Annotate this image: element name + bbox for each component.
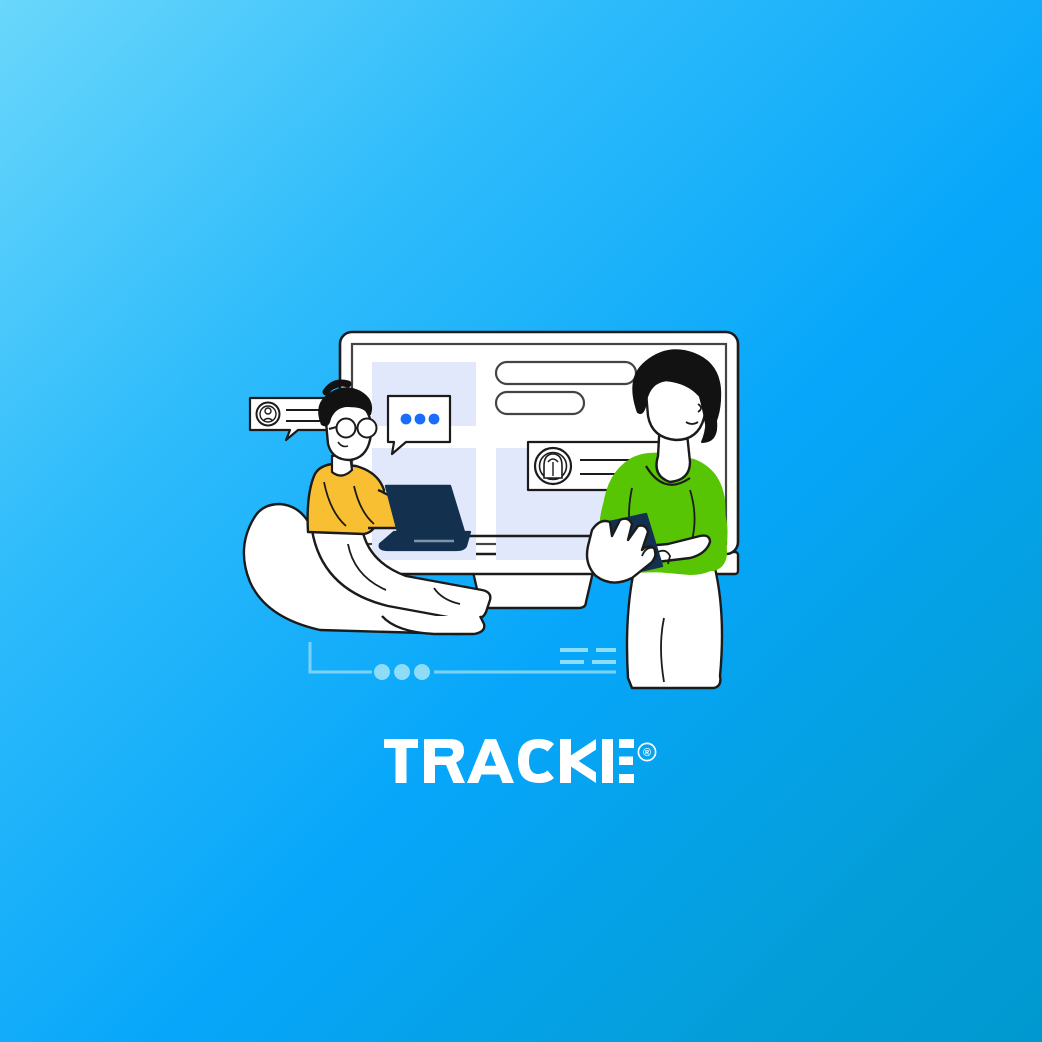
monitor-stand [473,572,593,608]
typing-dot [401,414,412,425]
typing-dot [415,414,426,425]
two-people-collaborating-illustration [228,300,808,700]
registered-trademark-icon: ® [636,741,658,763]
female-avatar-icon [535,448,571,484]
poster-canvas: ® TRACKIER Man on beanbag with laptop an… [0,0,1042,1042]
registered-trademark-letter: ® [643,747,651,759]
person-avatar-icon [257,403,280,426]
trackier-wordmark [384,739,634,791]
typing-dot [429,414,440,425]
brand-lockup: ® [0,725,1042,805]
search-pill-short [496,392,584,414]
search-pill-long [496,362,636,384]
